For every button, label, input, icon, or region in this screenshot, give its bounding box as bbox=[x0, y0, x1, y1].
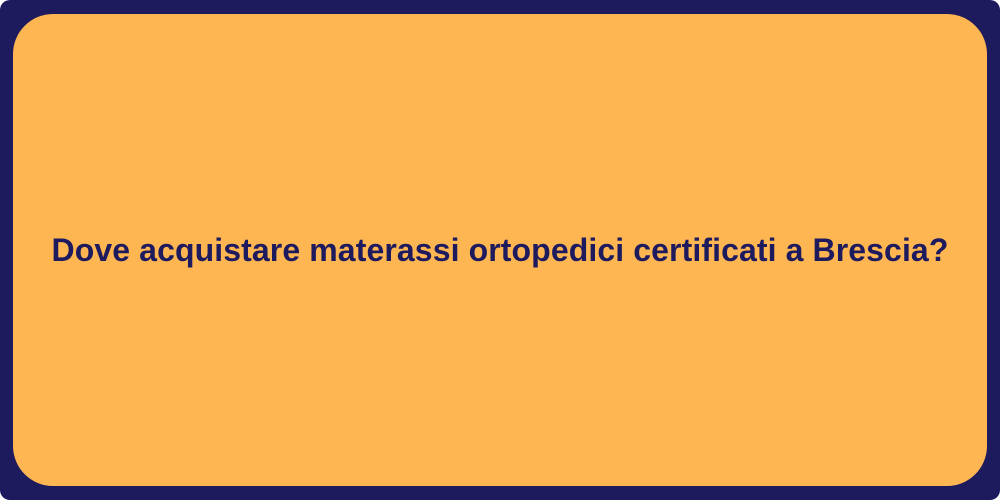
page-title: Dove acquistare materassi ortopedici cer… bbox=[52, 230, 949, 270]
question-card: Dove acquistare materassi ortopedici cer… bbox=[13, 14, 987, 486]
outer-frame: Dove acquistare materassi ortopedici cer… bbox=[0, 0, 1000, 500]
